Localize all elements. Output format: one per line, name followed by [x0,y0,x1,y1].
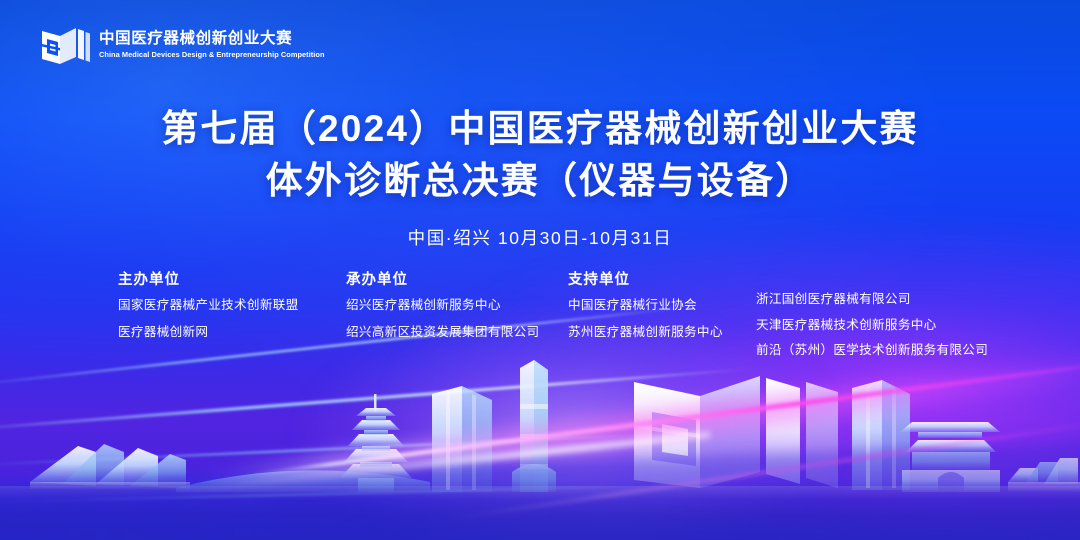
competition-door-logo-icon [38,20,90,70]
hero-titles: 第七届（2024）中国医疗器械创新创业大赛 体外诊断总决赛（仪器与设备） 中国·… [0,106,1080,250]
brand-logo-english: China Medical Devices Design & Entrepren… [99,50,325,60]
brand-logo: 中国医疗器械创新创业大赛 China Medical Devices Desig… [38,20,325,70]
organizer-list: 主办单位 国家医疗器械产业技术创新联盟 医疗器械创新网 承办单位 绍兴医疗器械创… [118,268,1016,370]
organizer-column-supporter-extra: 浙江国创医疗器械有限公司 天津医疗器械技术创新服务中心 前沿（苏州）医学技术创新… [756,268,1016,370]
brand-logo-chinese: 中国医疗器械创新创业大赛 [99,30,325,48]
organizer-item: 医疗器械创新网 [118,326,346,339]
organizer-item: 国家医疗器械产业技术创新联盟 [118,299,346,312]
organizer-item: 前沿（苏州）医学技术创新服务有限公司 [756,344,1016,357]
organizer-heading-organizer: 承办单位 [346,268,568,289]
organizer-heading-supporter: 支持单位 [568,268,756,289]
organizer-item: 浙江国创医疗器械有限公司 [756,293,1016,306]
brand-logo-text: 中国医疗器械创新创业大赛 China Medical Devices Desig… [99,30,325,59]
organizer-heading-host: 主办单位 [118,268,346,289]
poster-canvas: 中国医疗器械创新创业大赛 China Medical Devices Desig… [0,0,1080,540]
organizer-item: 苏州医疗器械创新服务中心 [568,326,756,339]
organizer-column-organizer: 承办单位 绍兴医疗器械创新服务中心 绍兴高新区投资发展集团有限公司 [346,268,568,352]
page-title-line-1: 第七届（2024）中国医疗器械创新创业大赛 [0,106,1080,152]
event-location-date: 中国·绍兴 10月30日-10月31日 [0,225,1080,250]
organizer-item: 中国医疗器械行业协会 [568,299,756,312]
organizer-column-supporter: 支持单位 中国医疗器械行业协会 苏州医疗器械创新服务中心 [568,268,756,352]
page-title-line-2: 体外诊断总决赛（仪器与设备） [0,158,1080,204]
organizer-item: 绍兴医疗器械创新服务中心 [346,299,568,312]
organizer-item: 绍兴高新区投资发展集团有限公司 [346,326,568,339]
organizer-column-host: 主办单位 国家医疗器械产业技术创新联盟 医疗器械创新网 [118,268,346,352]
organizer-item: 天津医疗器械技术创新服务中心 [756,319,1016,332]
